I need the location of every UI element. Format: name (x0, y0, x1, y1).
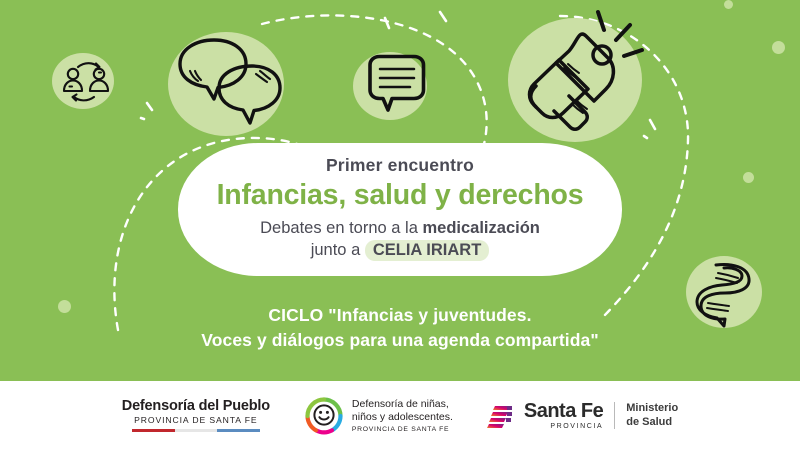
logo-santa-fe-ministerio-de-salud: Santa Fe PROVINCIA Ministerio de Salud (487, 401, 678, 430)
headline-card: Primer encuentro Infancias, salud y dere… (178, 143, 622, 276)
speaker-name: CELIA IRIART (365, 240, 489, 261)
logo-ninas-line1: Defensoría de niñas, (352, 398, 453, 411)
page-title: Infancias, salud y derechos (217, 180, 584, 211)
logo-defensoria-del-pueblo: Defensoría del Pueblo PROVINCIA DE SANTA… (122, 399, 270, 433)
chat-lines-icon (366, 52, 428, 114)
cycle-line-2: Voces y diálogos para una agenda compart… (0, 328, 800, 353)
speech-bubbles-icon (170, 36, 286, 132)
cycle-line-1: CICLO "Infancias y juventudes. (0, 303, 800, 328)
ministerio-line1: Ministerio (626, 402, 678, 415)
poster-canvas: Primer encuentro Infancias, salud y dere… (0, 0, 800, 450)
card-subtitle-line2: junto a CELIA IRIART (311, 240, 490, 261)
subtitle2-lead: junto a (311, 241, 365, 259)
card-subtitle-line1: Debates en torno a la medicalización (260, 218, 540, 239)
subtitle-emphasis: medicalización (422, 219, 539, 237)
subtitle-lead: Debates en torno a la (260, 219, 422, 237)
logo-defensoria-pueblo-title: Defensoría del Pueblo (122, 399, 270, 415)
logo-ninas-line3: PROVINCIA DE SANTA FE (352, 426, 453, 433)
logo-defensoria-ninas-ninos-adolescentes: Defensoría de niñas, niños y adolescente… (304, 396, 453, 436)
ministerio-line2: de Salud (626, 416, 678, 429)
smiley-circle-icon (304, 396, 344, 436)
santa-fe-name: Santa Fe (524, 401, 603, 421)
people-exchange-icon (58, 58, 114, 106)
ministerio-label: Ministerio de Salud (626, 402, 678, 429)
logo-divider (614, 402, 615, 429)
santa-fe-stripes-icon (487, 403, 517, 429)
logo-defensoria-pueblo-subtitle: PROVINCIA DE SANTA FE (134, 416, 257, 425)
card-kicker: Primer encuentro (326, 156, 474, 175)
tricolor-rule (132, 429, 260, 433)
megaphone-icon (512, 10, 642, 132)
santa-fe-subtitle: PROVINCIA (524, 423, 603, 430)
footer-logo-bar: Defensoría del Pueblo PROVINCIA DE SANTA… (0, 381, 800, 450)
cycle-text: CICLO "Infancias y juventudes. Voces y d… (0, 303, 800, 354)
logo-ninas-line2: niños y adolescentes. (352, 411, 453, 424)
